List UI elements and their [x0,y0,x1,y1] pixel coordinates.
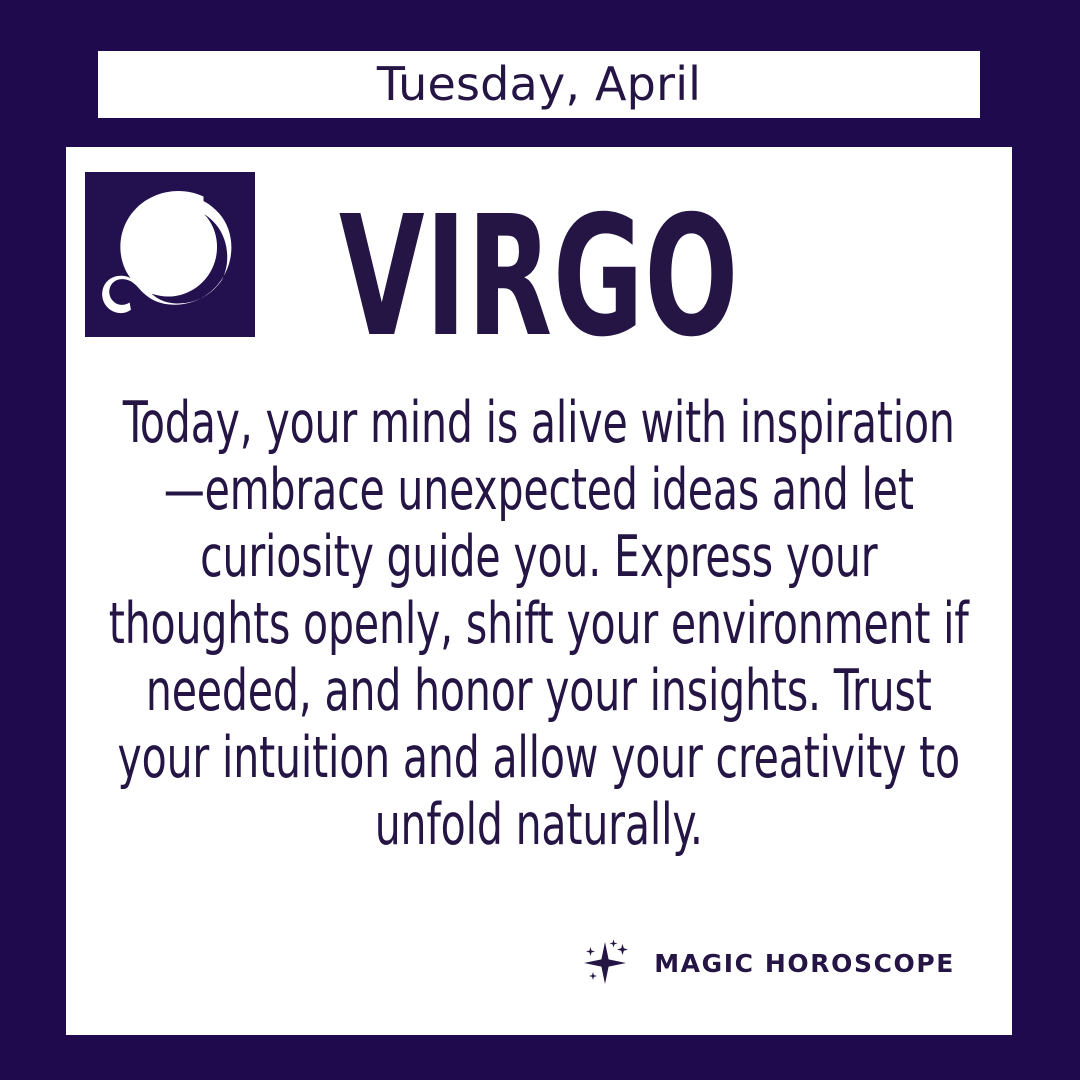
four-pointed-star-sparkle-icon [581,939,637,987]
brand-name-label: MAGIC HOROSCOPE [654,951,955,976]
date-header-bar: Tuesday, April [98,51,980,118]
horoscope-body-text: Today, your mind is alive with inspirati… [108,390,970,859]
sign-title: VIRGO [189,195,889,361]
horoscope-poster: Tuesday, April VIRGO Today, your mind is… [0,0,1080,1080]
brand-logo: MAGIC HOROSCOPE [581,939,955,987]
horoscope-card: VIRGO Today, your mind is alive with ins… [66,147,1012,1035]
date-label: Tuesday, April [377,61,701,107]
horoscope-body: Today, your mind is alive with inspirati… [108,390,970,859]
